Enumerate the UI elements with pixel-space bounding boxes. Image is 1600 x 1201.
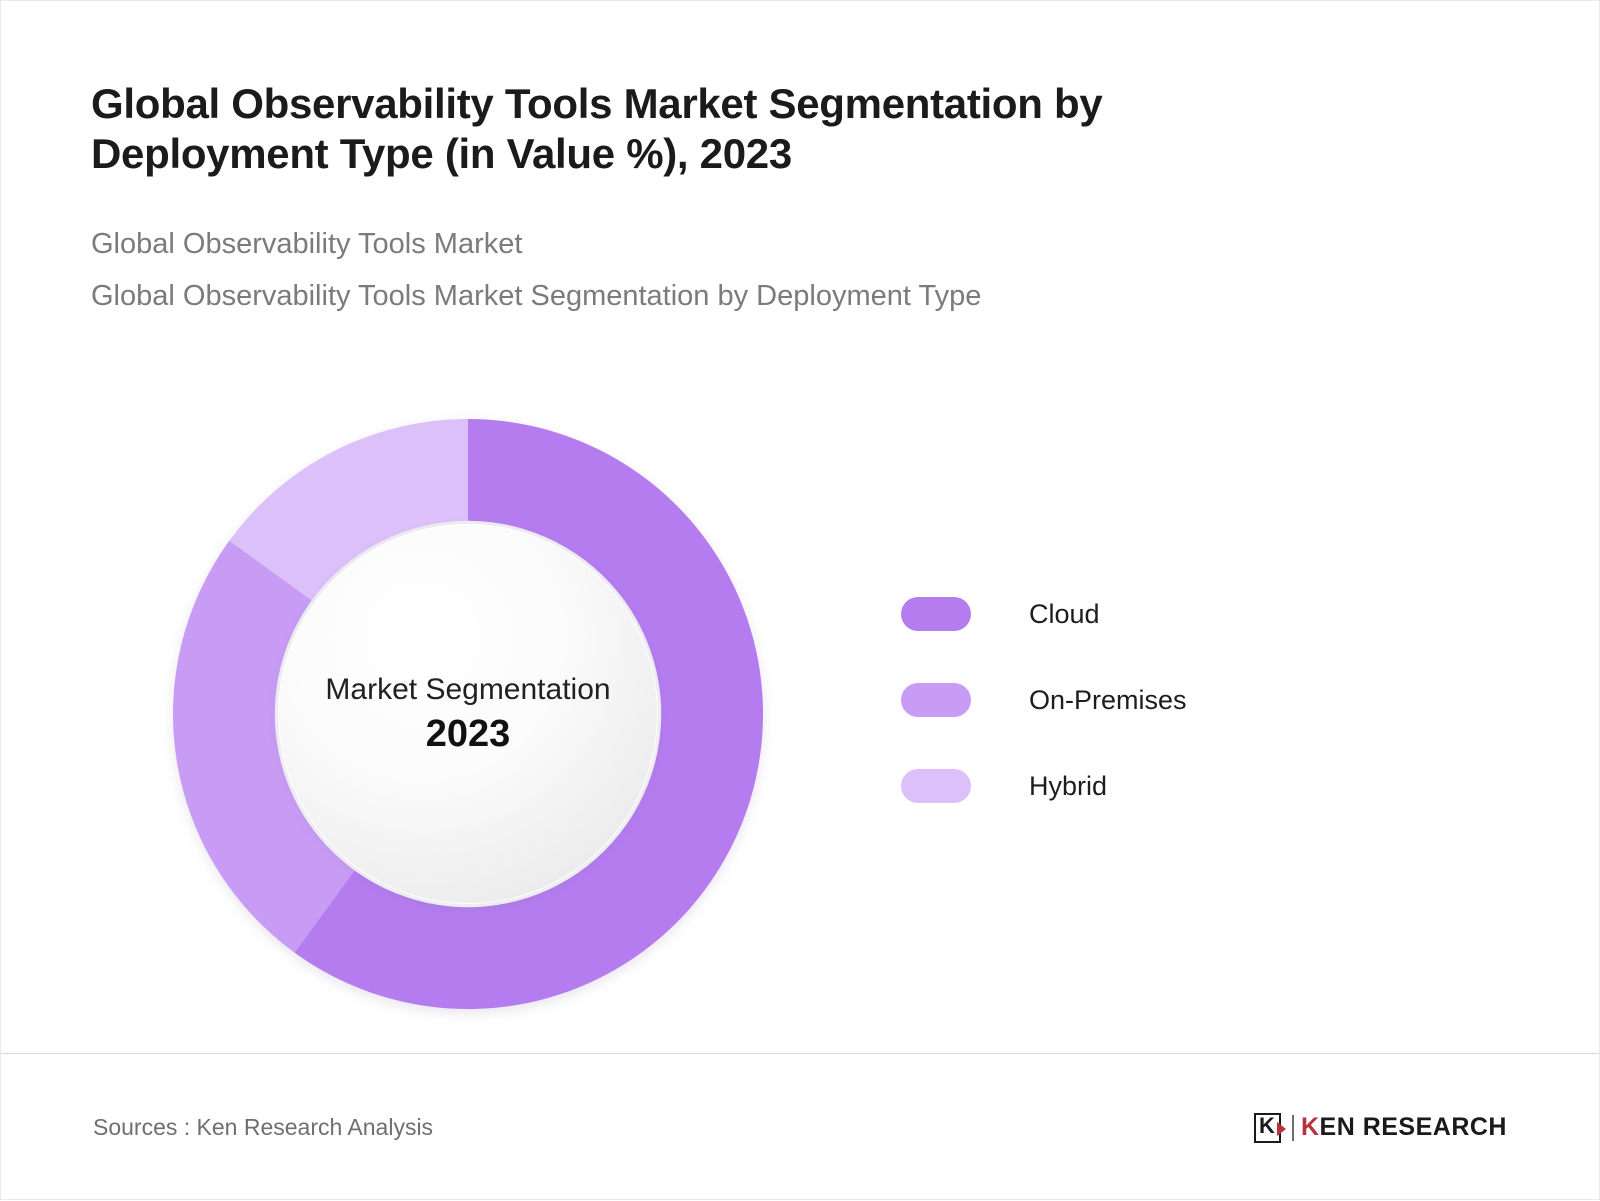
- donut-center-label: Market Segmentation 2023: [278, 524, 658, 904]
- legend-item-label: Hybrid: [1029, 771, 1107, 802]
- plot-area: Market Segmentation 2023 Cloud On-Premis…: [1, 399, 1600, 1049]
- chart-legend: Cloud On-Premises Hybrid: [901, 571, 1361, 829]
- legend-swatch-icon: [901, 683, 971, 717]
- legend-item-label: On-Premises: [1029, 685, 1187, 716]
- legend-item-label: Cloud: [1029, 599, 1100, 630]
- chart-page: Global Observability Tools Market Segmen…: [0, 0, 1600, 1200]
- logo-wordmark-accent: K: [1301, 1113, 1320, 1141]
- donut-center-year: 2023: [426, 714, 511, 756]
- logo-divider-icon: [1292, 1115, 1294, 1141]
- logo-k-glyph: K: [1259, 1113, 1275, 1139]
- chart-header: Global Observability Tools Market Segmen…: [91, 79, 1371, 315]
- logo-triangle-icon: [1277, 1122, 1286, 1136]
- page-title: Global Observability Tools Market Segmen…: [91, 79, 1321, 178]
- source-note: Sources : Ken Research Analysis: [93, 1114, 433, 1141]
- legend-swatch-icon: [901, 597, 971, 631]
- legend-swatch-icon: [901, 769, 971, 803]
- ken-research-logo: K KEN RESEARCH: [1254, 1113, 1507, 1143]
- chart-footer: Sources : Ken Research Analysis K KEN RE…: [1, 1054, 1599, 1201]
- legend-item-cloud[interactable]: Cloud: [901, 571, 1361, 657]
- logo-wordmark-rest: EN RESEARCH: [1320, 1113, 1507, 1141]
- chart-subtitle-secondary: Global Observability Tools Market Segmen…: [91, 278, 1371, 314]
- logo-wordmark: KEN RESEARCH: [1301, 1113, 1507, 1142]
- chart-subtitle-primary: Global Observability Tools Market: [91, 226, 1371, 262]
- legend-item-hybrid[interactable]: Hybrid: [901, 743, 1361, 829]
- logo-k-mark-icon: K: [1254, 1113, 1281, 1143]
- donut-center-title: Market Segmentation: [325, 673, 610, 706]
- donut-chart: Market Segmentation 2023: [173, 419, 763, 1009]
- legend-item-on-premises[interactable]: On-Premises: [901, 657, 1361, 743]
